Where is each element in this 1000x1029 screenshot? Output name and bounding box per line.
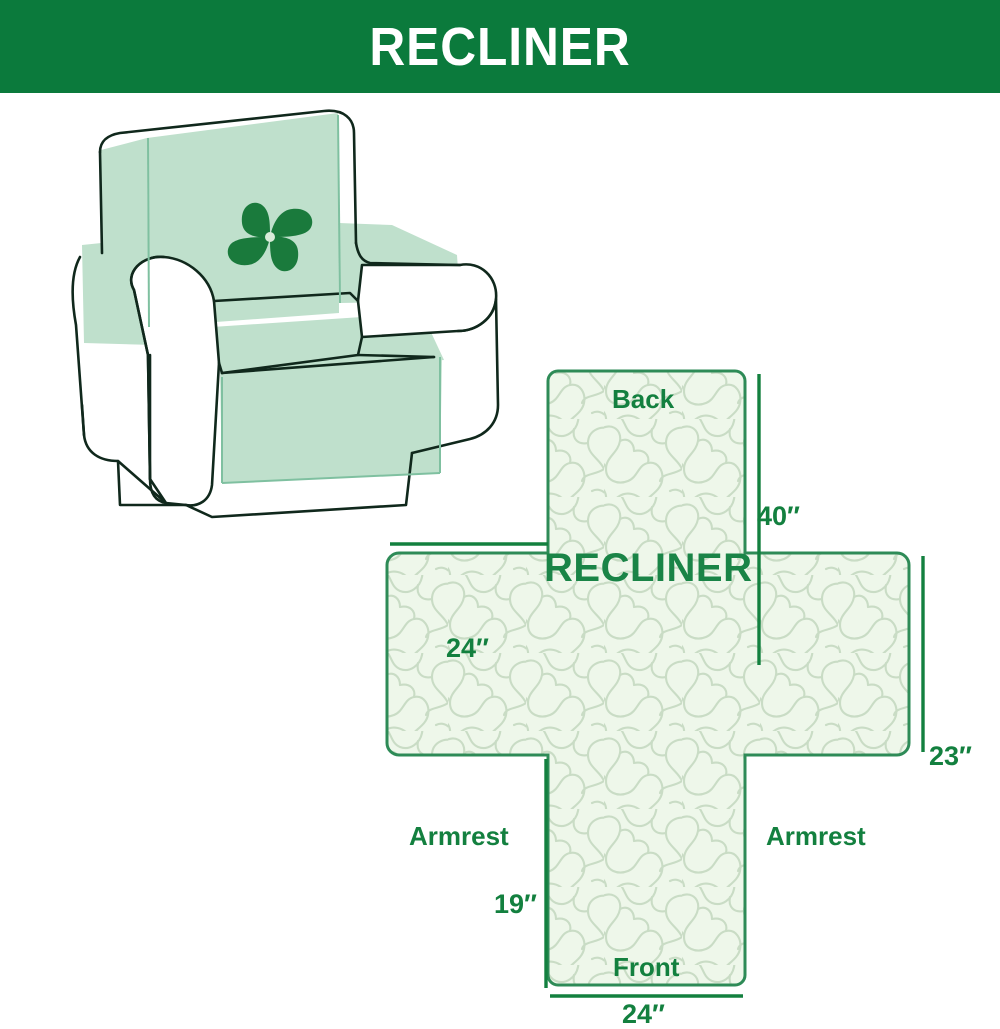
panel-label-center: RECLINER: [544, 548, 752, 588]
panel-label-armrest-left: Armrest: [409, 823, 509, 849]
cross-pattern-shape: [387, 371, 909, 985]
dimension-label-front-height: 19″: [494, 891, 537, 918]
dimension-label-back-height: 40″: [757, 503, 800, 530]
panel-label-back: Back: [612, 386, 674, 412]
panel-label-armrest-right: Armrest: [766, 823, 866, 849]
diagram-stage: Back RECLINER Armrest Armrest Front 40″ …: [0, 93, 1000, 1000]
dimension-label-front-width: 24″: [622, 1001, 665, 1028]
dimension-label-armrest-width: 24″: [446, 635, 489, 662]
page-title: RECLINER: [369, 20, 630, 74]
panel-label-front: Front: [613, 954, 679, 980]
header-banner: RECLINER: [0, 0, 1000, 93]
dimension-label-seat-depth: 23″: [929, 743, 972, 770]
